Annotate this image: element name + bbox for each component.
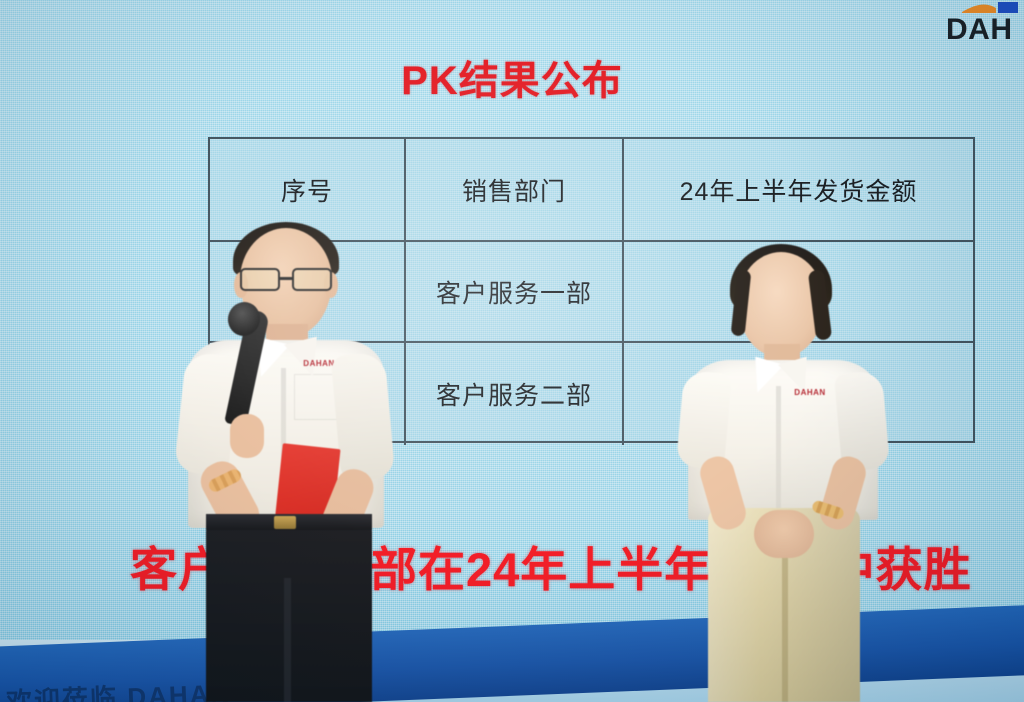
male-belt-buckle [274, 516, 296, 529]
lens-bridge [280, 277, 292, 280]
slide-title: PK结果公布 [0, 58, 1024, 104]
eyeglasses-icon [238, 268, 334, 292]
logo-wordmark: DAH [946, 13, 1013, 46]
presentation-photo: DAH PK结果公布 序号 销售部门 24年上半年发货金额 客户服务一部 万元 … [0, 0, 1024, 702]
person-presenter-male: DAHAN [178, 228, 394, 702]
male-leg-split [284, 578, 291, 702]
lens-left [240, 268, 280, 291]
table-header-department: 销售部门 [406, 139, 624, 242]
lens-right [292, 268, 332, 291]
female-arm-left [676, 370, 732, 470]
female-blouse-placket [776, 386, 781, 518]
person-employee-female: DAHAN [676, 252, 890, 702]
female-shirt-logo: DAHAN [788, 386, 832, 399]
male-hand-holding-mic [230, 414, 264, 458]
table-row-2-department: 客户服务二部 [406, 343, 624, 445]
table-row-1-department: 客户服务一部 [406, 242, 624, 343]
table-header-amount: 24年上半年发货金额 [624, 139, 973, 242]
male-arm-right [331, 352, 396, 482]
dahan-logo: DAH [944, 0, 1024, 46]
female-trousers-fold [782, 552, 788, 702]
female-clasped-hands [754, 510, 814, 558]
